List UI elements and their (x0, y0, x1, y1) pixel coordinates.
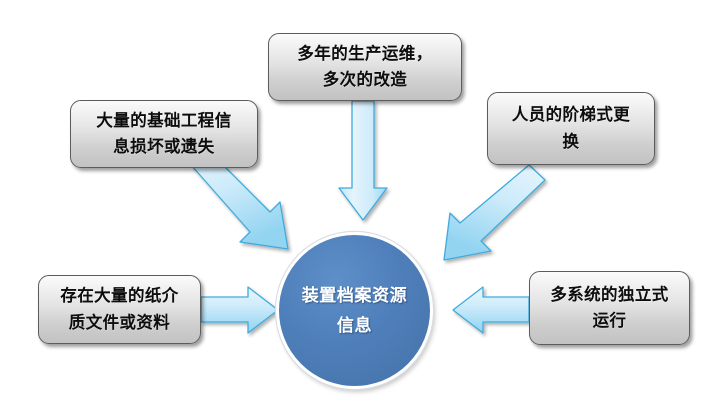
node-box-top-right-line2: 换 (563, 133, 580, 151)
center-hub-circle: 装置档案资源信息 (276, 232, 433, 389)
node-box-bottom-right-label: 多系统的独立式 运行 (537, 282, 682, 334)
node-box-bottom-right[interactable]: 多系统的独立式 运行 (529, 271, 690, 345)
node-box-top-right[interactable]: 人员的阶梯式更 换 (487, 92, 655, 165)
node-box-bottom-left[interactable]: 存在大量的纸介 质文件或资料 (38, 275, 201, 344)
node-box-bottom-left-label: 存在大量的纸介 质文件或资料 (46, 283, 193, 335)
diagram-canvas: 装置档案资源信息 多年的生产运维， 多次的改造 大量的基础工程信 息损坏或遗失 … (0, 0, 723, 417)
arrow-top-down (339, 101, 387, 220)
node-box-top-left-line1: 大量的基础工程信 (96, 112, 231, 130)
arrow-right-left (453, 287, 529, 333)
node-box-top-right-label: 人员的阶梯式更 换 (495, 102, 647, 154)
node-box-bottom-right-line2: 运行 (593, 312, 627, 330)
node-box-top-line2: 多次的改造 (323, 71, 408, 89)
node-box-top-left-label: 大量的基础工程信 息损坏或遗失 (78, 108, 250, 160)
node-box-bottom-left-line1: 存在大量的纸介 (60, 287, 178, 305)
node-box-top-right-line1: 人员的阶梯式更 (512, 106, 630, 124)
node-box-top-label: 多年的生产运维， 多次的改造 (276, 41, 454, 93)
arrow-top-right-diagonal (444, 165, 545, 260)
node-box-top-left-line2: 息损坏或遗失 (113, 138, 214, 156)
arrow-left-right (201, 287, 278, 333)
center-hub-label: 装置档案资源信息 (296, 281, 414, 339)
node-box-bottom-right-line1: 多系统的独立式 (550, 286, 668, 304)
node-box-top[interactable]: 多年的生产运维， 多次的改造 (268, 33, 462, 101)
node-box-top-line1: 多年的生产运维， (297, 45, 432, 63)
node-box-top-left[interactable]: 大量的基础工程信 息损坏或遗失 (70, 100, 258, 168)
node-box-bottom-left-line2: 质文件或资料 (69, 314, 170, 332)
